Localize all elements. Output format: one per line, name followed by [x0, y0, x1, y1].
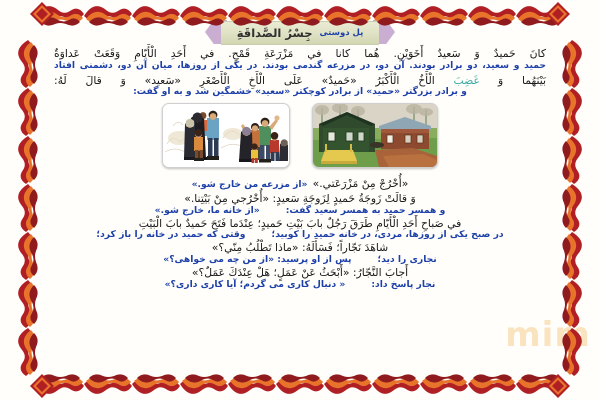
dialogue-1-arabic: «أُخْرُجْ مِنْ مَزْرَعَتي.»: [313, 177, 409, 190]
dialogue-4-persian-row: نجاری را دید؛ پس از او پرسید: «از من چه …: [52, 255, 548, 266]
corner-ornament-top-right: [546, 2, 570, 26]
dialogue-2-arabic: وَ قالَتْ زَوجَةُ حَميدٍ لِزَوجَةِ سَعيد…: [52, 193, 548, 206]
two-families-illustration: [162, 103, 290, 168]
corner-ornament-bottom-left: [30, 374, 54, 398]
dialogue-2-persian-row: و همسر حمید به همسر سعید گفت: «از خانه م…: [52, 206, 548, 217]
dialogue-5-persian-b: « دنبال کاری می گردم؛ آیا کاری داری؟»: [165, 280, 346, 291]
dialogue-5: أَجابَ النَّجّارُ: «أَبْحَثُ عَنْ عَمَلٍ…: [52, 267, 548, 291]
p1-persian-line-1: حمید و سعید، دو برادر بودند. آن دو، در م…: [52, 61, 548, 72]
image-row: [52, 103, 548, 167]
dialogue-1-persian: «از مزرعه من خارج شو.»: [192, 179, 308, 190]
dialogue-3-persian-b: وقتی که حمید در خانه را باز کرد؛: [96, 230, 245, 241]
dialogue-2-persian-b: «از خانه ما، خارج شو.»: [155, 206, 260, 217]
dialogue-5-persian-row: نجار پاسخ داد: « دنبال کاری می گردم؛ آیا…: [52, 280, 548, 291]
banner-arabic-title: جِسْرُ الصَّداقَةِ: [237, 26, 313, 40]
dialogue-3-persian-row: در صبح یکی از روزها، مردی، در خانه حمید …: [52, 230, 548, 241]
dialogue-1-row: «أُخْرُجْ مِنْ مَزْرَعَتي.» «از مزرعه من…: [52, 173, 548, 192]
dialogue-5-persian-a: نجار پاسخ داد:: [371, 280, 435, 291]
paragraph-1: كانَ حَميدٌ وَ سَعيدٌ أَخَوَيْنِ. هُما ك…: [52, 48, 548, 98]
banner-persian-title: پل دوستی: [320, 28, 364, 38]
lesson-page: mim پل دوستی جِسْرُ الصَّداقَةِ كانَ حَم…: [0, 0, 600, 400]
dialogue-5-arabic: أَجابَ النَّجّارُ: «أَبْحَثُ عَنْ عَمَلٍ…: [52, 267, 548, 280]
dialogue-4: شاهَدَ نَجّاراً؛ فَسَأَلَهُ: «ماذا تَطْل…: [52, 242, 548, 266]
dialogue-2-persian-a: و همسر حمید به همسر سعید گفت:: [286, 206, 446, 217]
p1-arabic-line-1: كانَ حَميدٌ وَ سَعيدٌ أَخَوَيْنِ. هُما ك…: [52, 48, 548, 61]
families-scene-icon: [163, 104, 289, 167]
dialogue-2: وَ قالَتْ زَوجَةُ حَميدٍ لِزَوجَةِ سَعيد…: [52, 193, 548, 217]
page-content: پل دوستی جِسْرُ الصَّداقَةِ كانَ حَميدٌ …: [52, 16, 548, 378]
dialogue-1: «أُخْرُجْ مِنْ مَزْرَعَتي.» «از مزرعه من…: [52, 173, 548, 192]
two-houses-photo: [312, 103, 438, 168]
p1-arabic-line-2-after: الْأَخُ الْأَكْبَرُ «حَميدٌ» عَلَى الْأَ…: [54, 74, 454, 87]
p1-arabic-line-2-before: بَيْنَهُما وَ: [479, 74, 546, 87]
dialogue-3: في صَباحِ أَحَدِ الْأَيّامِ طَرَقَ رَجُل…: [52, 218, 548, 242]
houses-scene-icon: [313, 104, 437, 167]
dialogue-4-persian-b: پس از او پرسید: «از من چه می خواهی؟»: [163, 255, 351, 266]
banner-bar: پل دوستی جِسْرُ الصَّداقَةِ: [221, 21, 379, 45]
corner-ornament-top-left: [30, 2, 54, 26]
p1-persian-line-2: و برادر بزرگتر «حمید» از برادر کوچکتر «س…: [52, 87, 548, 98]
dialogue-3-persian-a: در صبح یکی از روزها، مردی، در خانه حمید …: [272, 230, 504, 241]
dialogue-4-persian-a: نجاری را دید؛: [378, 255, 437, 266]
p1-highlight-word: غَضِبَ: [454, 74, 480, 87]
title-banner: پل دوستی جِسْرُ الصَّداقَةِ: [205, 20, 395, 46]
